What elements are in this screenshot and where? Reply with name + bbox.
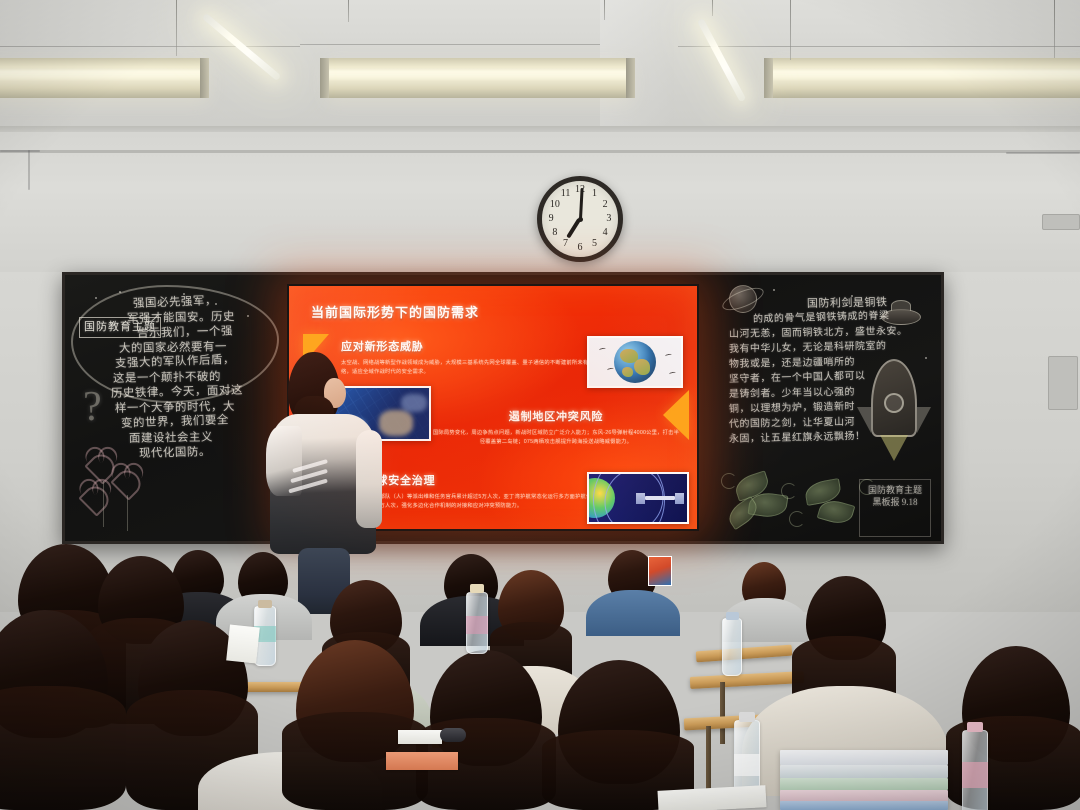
clock-numeral: 8 (552, 228, 557, 238)
slide-thumb-globe (587, 336, 683, 388)
slide-title: 当前国际形势下的国防需求 (311, 302, 479, 321)
light-wire (348, 0, 349, 22)
textbook (780, 790, 948, 801)
presenter-shoulder (266, 426, 302, 496)
tech-highlight (379, 410, 413, 436)
wall-trim (0, 150, 1080, 153)
ceiling-light-cap (626, 58, 635, 98)
chalk-swirl (781, 483, 797, 499)
ceiling-seam (0, 46, 300, 47)
tech-highlight (401, 394, 427, 412)
ceiling-light-fixture (0, 58, 208, 98)
clock-numeral: 1 (592, 189, 597, 199)
ceiling-light-cap (200, 58, 209, 98)
bottle-cap (470, 584, 484, 593)
bird-glyph (599, 347, 606, 351)
clock-numeral: 9 (549, 214, 554, 224)
folder (386, 752, 458, 770)
chalk-star (119, 291, 121, 293)
ceiling-seam (300, 44, 600, 45)
chalk-question-mark: ? (83, 383, 102, 431)
light-wire (604, 0, 605, 20)
chalk-heart-balloon (110, 465, 145, 500)
classroom-desk (696, 645, 793, 663)
seated-students (0, 500, 1080, 810)
paper-sheet (226, 625, 260, 664)
clock-numeral: 11 (561, 189, 571, 199)
chalk-rocket-flame (880, 435, 908, 461)
bottle-label (962, 762, 988, 788)
desk-leg (720, 682, 725, 744)
bottle-label (734, 754, 760, 776)
ceiling-light-fixture (770, 58, 1080, 98)
ceiling-light-fixture (326, 58, 632, 98)
light-wire (1054, 0, 1055, 58)
clock-numeral: 7 (563, 239, 568, 249)
wall-poster (648, 556, 672, 586)
wall-conduit (0, 150, 40, 152)
clock-numeral: 6 (578, 243, 583, 253)
textbook-stack (780, 750, 948, 810)
textbook (780, 750, 948, 765)
student-shoulders (586, 590, 680, 636)
wall-clock: 12 1 2 3 4 5 6 7 8 9 10 11 (537, 176, 623, 262)
chalk-swirl (721, 473, 737, 489)
globe-landmass (622, 367, 633, 377)
bottle-cap (967, 722, 983, 732)
classroom-scene: 12 1 2 3 4 5 6 7 8 9 10 11 国防教育主题 ? (0, 0, 1080, 810)
textbook (780, 765, 948, 778)
globe-illustration (614, 341, 656, 383)
chalk-star (773, 289, 775, 291)
chalk-rocket-fin (917, 407, 931, 433)
bird-glyph (607, 367, 614, 371)
clock-numeral: 5 (592, 239, 597, 249)
student-hair (0, 686, 126, 810)
clock-minute-hand (579, 188, 583, 219)
ceiling-light-cap (320, 58, 329, 98)
paper-sheet (398, 730, 442, 744)
clock-center-pin (578, 217, 583, 222)
wall-conduit (1006, 152, 1080, 154)
slide-section-2-body: 国际局势变化，周边争热点问题，新战时区域防立广泛介入能力；东风-26导弹射程40… (431, 429, 681, 446)
ceiling-seam (678, 46, 1080, 47)
classroom-desk (690, 671, 804, 689)
bottle-cap (258, 600, 272, 608)
wall-fixture (1042, 214, 1080, 230)
pencil-case (440, 728, 466, 742)
chalk-rocket-fin (857, 407, 871, 433)
clock-numeral: 3 (606, 214, 611, 224)
chalk-rocket-window (884, 393, 904, 413)
clock-numeral: 10 (550, 200, 560, 210)
ceiling-light-cap (764, 58, 773, 98)
bird-glyph (669, 371, 676, 375)
bottle-cap (726, 612, 739, 620)
light-wire (712, 0, 713, 16)
textbook (780, 778, 948, 790)
globe-landmass (634, 359, 650, 375)
bottle-label (466, 616, 488, 634)
clock-numeral: 4 (603, 228, 608, 238)
chalk-star (95, 297, 97, 299)
bird-glyph (665, 353, 672, 357)
light-wire (176, 0, 177, 56)
water-bottle (722, 618, 742, 676)
bottle-cap (739, 712, 755, 722)
wall-conduit (28, 150, 30, 190)
wall-vent (1048, 356, 1078, 410)
clock-numeral: 2 (603, 200, 608, 210)
textbook (780, 801, 948, 810)
slide-section-2: 遏制地区冲突风险 国际局势变化，周边争热点问题，新战时区域防立广泛介入能力；东风… (431, 408, 681, 446)
slide-section-2-heading: 遏制地区冲突风险 (431, 408, 681, 424)
light-wire (790, 0, 791, 60)
